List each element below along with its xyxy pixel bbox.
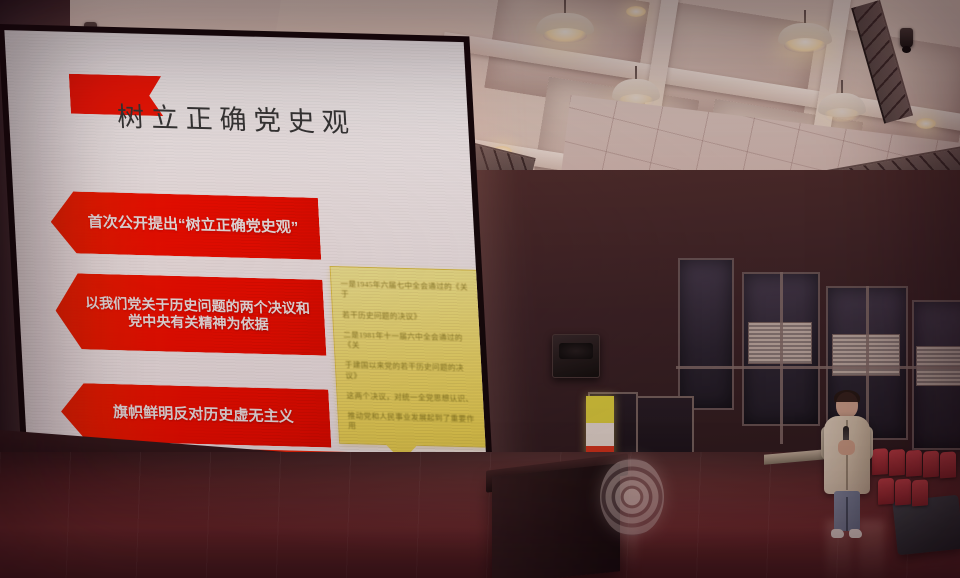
slide-banner-2: 以我们党关于历史问题的两个决议和党中央有关精神为依据 [54, 273, 327, 356]
seat [923, 451, 939, 478]
led-screen[interactable]: 树立正确党史观 首次公开提出“树立正确党史观” 以我们党关于历史问题的两个决议和… [0, 24, 494, 496]
slide-banner-1: 首次公开提出“树立正确党史观” [49, 191, 321, 260]
lamp-glow [824, 108, 860, 123]
window [678, 258, 734, 410]
presenter [818, 392, 876, 542]
floor [0, 452, 960, 578]
presenter-hands [838, 440, 855, 455]
callout-line: 于建国以来党的若干历史问题的决议》 [345, 360, 474, 384]
callout-line: 推动党和人民事业发展起到了重要作用 [347, 411, 476, 435]
callout-line: 这两个决议，对统一全党思想认识、 [346, 391, 475, 405]
pendant-lamp [818, 80, 866, 130]
notice-poster [586, 396, 614, 460]
seat [906, 450, 922, 477]
seat [889, 449, 905, 476]
stage-spotlight [900, 28, 913, 48]
presentation-slide[interactable]: 树立正确党史观 首次公开提出“树立正确党史观” 以我们党关于历史问题的两个决议和… [4, 30, 488, 489]
institution-seal-icon [600, 458, 664, 536]
seat [878, 478, 894, 505]
slide-banner-1-text: 首次公开提出“树立正确党史观” [87, 214, 299, 237]
slide-banner-2-text: 以我们党关于历史问题的两个决议和党中央有关精神为依据 [81, 295, 315, 334]
lamp-cord [804, 10, 806, 24]
lamp-cord [564, 0, 566, 14]
audience-seats [872, 437, 960, 521]
slide-title: 树立正确党史观 [116, 95, 357, 140]
seat [912, 479, 928, 506]
slide-banner-3-text: 旗帜鲜明反对历史虚无主义 [113, 404, 294, 426]
lamp-cord [841, 80, 843, 94]
presenter-shoe-right [849, 529, 862, 538]
pendant-lamp [778, 10, 832, 66]
wall-speaker [552, 334, 600, 378]
callout-line: 二是1981年十一届六中全会通过的《关 [343, 330, 472, 354]
screenshot-root: 树立正确党史观 首次公开提出“树立正确党史观” 以我们党关于历史问题的两个决议和… [0, 0, 960, 578]
presenter-shoe-left [831, 529, 844, 538]
seat [895, 478, 911, 505]
pendant-lamp [536, 0, 594, 58]
callout-line: 若干历史问题的决议》 [342, 310, 471, 324]
lamp-glow [784, 38, 825, 53]
presenter-legs [834, 491, 860, 531]
lectern [492, 463, 620, 578]
lamp-glow [543, 28, 587, 43]
window-mullion [780, 272, 783, 444]
lamp-cord [635, 66, 637, 80]
presenter-head [836, 392, 858, 418]
slide-callout-box: 一是1945年六届七中全会通过的《关于 若干历史问题的决议》 二是1981年十一… [330, 266, 488, 448]
recessed-downlight [626, 6, 646, 17]
recessed-downlight [916, 118, 936, 129]
seat [940, 451, 956, 478]
window-mullion [676, 366, 960, 369]
callout-line: 一是1945年六届七中全会通过的《关于 [340, 279, 469, 303]
